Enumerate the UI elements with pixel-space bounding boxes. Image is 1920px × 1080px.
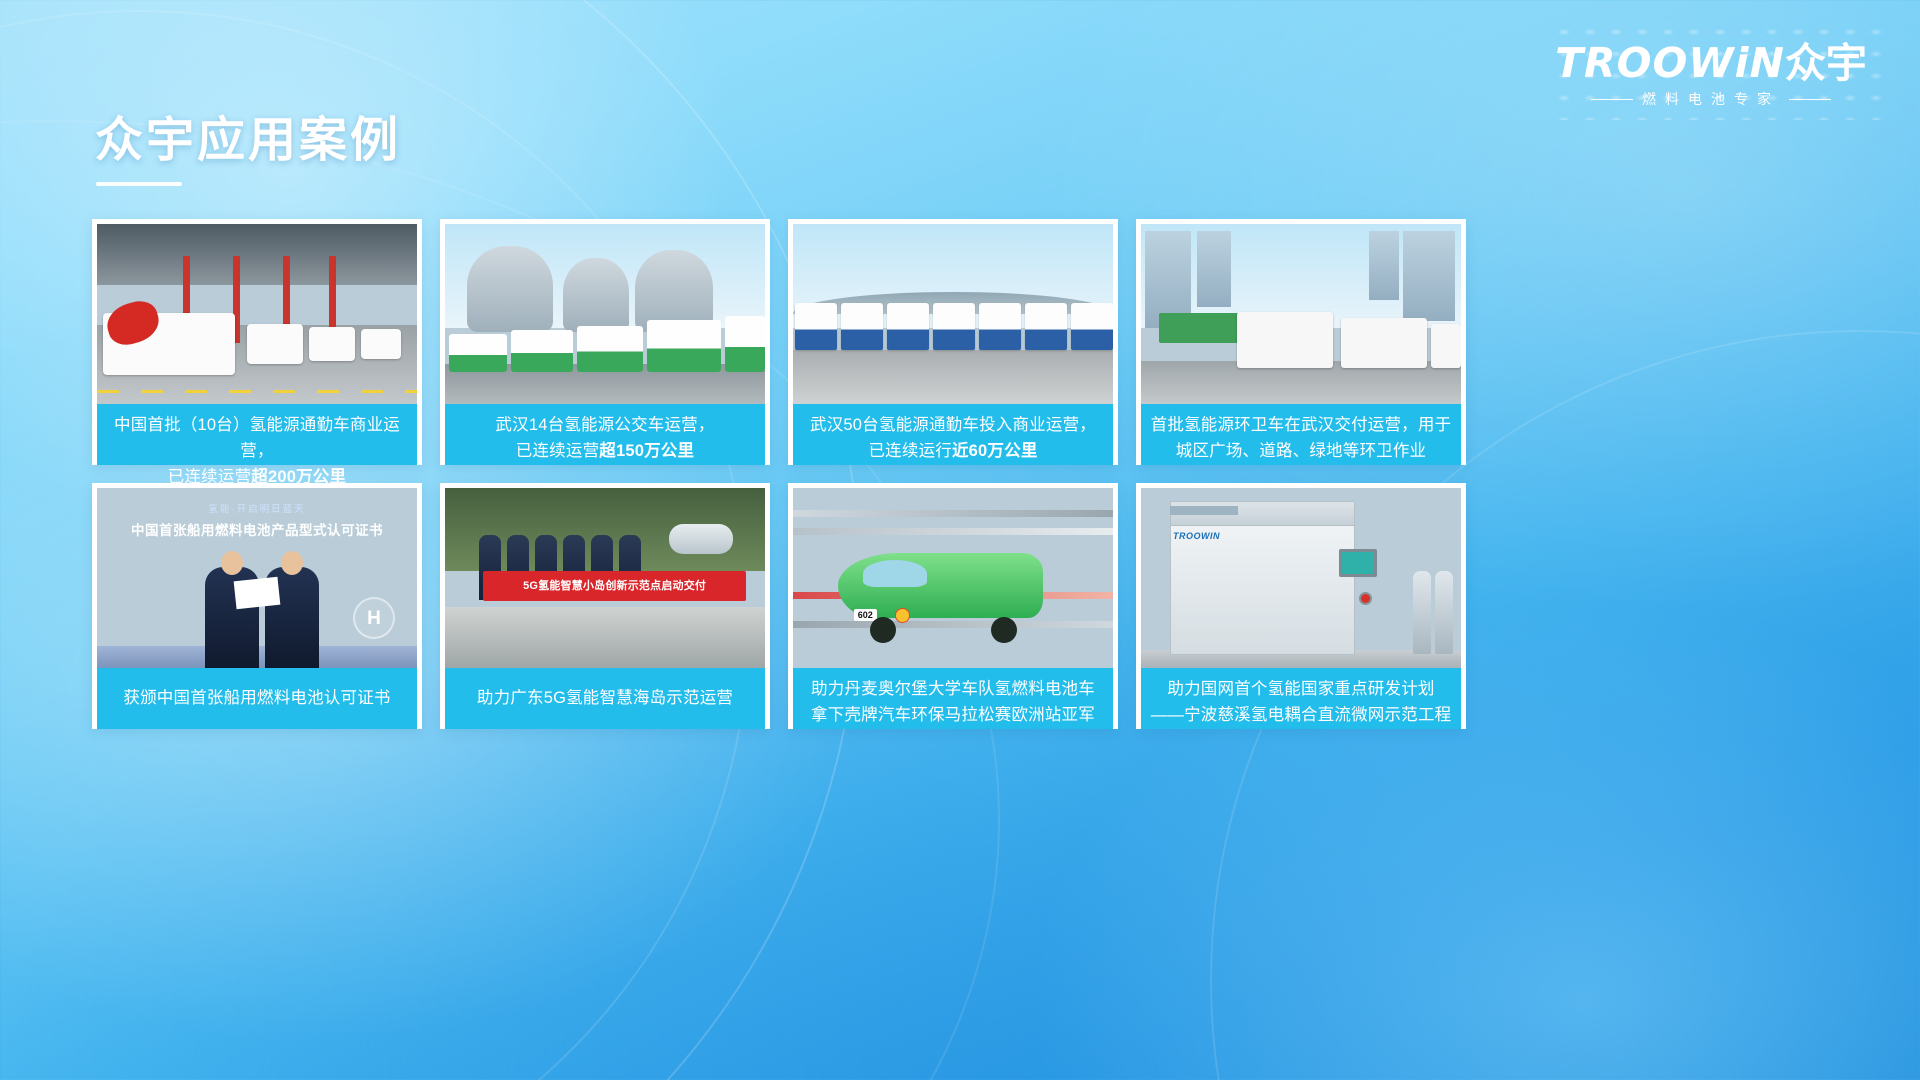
building-tower [467, 246, 553, 332]
case-card-grid: 中国首批（10台）氢能源通勤车商业运营， 已连续运营超200万公里 武汉14台氢… [92, 219, 1832, 729]
logo-tagline: 燃料电池专家 [1642, 89, 1780, 109]
case-card-wuhan-50-commuter[interactable]: 武汉50台氢能源通勤车投入商业运营， 已连续运行近60万公里 [788, 219, 1118, 465]
bus-vehicle [841, 303, 883, 350]
logo-rule-right [1789, 99, 1831, 100]
bus-vehicle [979, 303, 1021, 350]
case-caption: 助力丹麦奥尔堡大学车队氢燃料电池车 拿下壳牌汽车环保马拉松赛欧洲站亚军 [793, 668, 1113, 729]
building [1403, 231, 1455, 321]
case-card-aalborg-shell-eco[interactable]: 602 助力丹麦奥尔堡大学车队氢燃料电池车 拿下壳牌汽车环保马拉松赛欧洲站亚军 [788, 483, 1118, 729]
race-car-wheel [870, 617, 896, 643]
bus-vehicle [887, 303, 929, 350]
logo-tagline-row: 燃料电池专家 [1546, 89, 1876, 109]
case-caption: 武汉14台氢能源公交车运营， 已连续运营超150万公里 [445, 404, 765, 465]
motion-streak [793, 621, 1113, 628]
bus-vehicle [725, 316, 765, 372]
case-card-commuter-bus-10[interactable]: 中国首批（10台）氢能源通勤车商业运营， 已连续运营超200万公里 [92, 219, 422, 465]
case-card-guangdong-5g-island[interactable]: 5G氢能智慧小岛创新示范点启动交付 助力广东5G氢能智慧海岛示范运营 [440, 483, 770, 729]
case-caption-line1: 武汉14台氢能源公交车运营， [495, 416, 714, 434]
case-photo-wuhan-50-commuter [793, 224, 1113, 404]
case-card-marine-certificate[interactable]: 氢能·开启明日蓝天 中国首张船用燃料电池产品型式认可证书 H 获颁中国首张船用燃… [92, 483, 422, 729]
fuel-cell-cabinet [1170, 501, 1356, 656]
sanitation-equipment [1159, 313, 1245, 343]
case-photo-commuter-bus-10 [97, 224, 417, 404]
brand-logo: TROOWiN众宇 燃料电池专家 [1546, 38, 1876, 112]
case-caption-line1: 中国首批（10台）氢能源通勤车商业运营， [114, 416, 400, 460]
stage-kicker-text: 氢能·开启明日蓝天 [97, 501, 417, 515]
control-screen [1339, 549, 1377, 577]
depot-roof [97, 224, 417, 285]
logo-wordmark-chinese: 众宇 [1785, 40, 1867, 86]
case-card-ningbo-cixi-microgrid[interactable]: TROOWIN 助力国网首个氢能国家重点研发计划 ——宁波慈溪氢电耦合直流微网示… [1136, 483, 1466, 729]
road-lane-marking [97, 390, 417, 393]
bus-vehicle [933, 303, 975, 350]
person-face [221, 551, 243, 575]
bus-vehicle [1025, 303, 1067, 350]
case-card-wuhan-14-bus[interactable]: 武汉14台氢能源公交车运营， 已连续运营超150万公里 [440, 219, 770, 465]
case-caption: 首批氢能源环卫车在武汉交付运营，用于 城区广场、道路、绿地等环卫作业 [1141, 404, 1461, 465]
race-car-canopy [863, 560, 927, 587]
race-car-wheel [991, 617, 1017, 643]
building [1369, 231, 1399, 299]
stage-headline-text: 中国首张船用燃料电池产品型式认可证书 [97, 519, 417, 539]
case-caption-line1: 助力国网首个氢能国家重点研发计划 [1167, 680, 1434, 698]
event-banner-text: 5G氢能智慧小岛创新示范点启动交付 [523, 580, 706, 592]
bus-vehicle [449, 334, 507, 372]
case-caption-line2: 城区广场、道路、绿地等环卫作业 [1176, 442, 1427, 460]
case-caption: 助力广东5G氢能智慧海岛示范运营 [445, 668, 765, 729]
case-photo-guangdong-5g-island: 5G氢能智慧小岛创新示范点启动交付 [445, 488, 765, 668]
logo-wordmark-latin: TROOWiN [1555, 39, 1785, 87]
parking-lot-ground [793, 350, 1113, 404]
page-title: 众宇应用案例 [95, 110, 401, 172]
case-photo-wuhan-14-bus [445, 224, 765, 404]
sanitation-truck [1237, 312, 1333, 368]
case-caption-line2: 已连续运营 [516, 442, 600, 460]
case-caption-line2: ——宁波慈溪氢电耦合直流微网示范工程 [1151, 706, 1452, 724]
gas-cylinder [1435, 571, 1453, 654]
emergency-stop-button [1359, 592, 1372, 605]
person-face [281, 551, 303, 575]
case-caption: 武汉50台氢能源通勤车投入商业运营， 已连续运行近60万公里 [793, 404, 1113, 465]
sanitation-truck [1341, 318, 1427, 368]
bus-vehicle [795, 303, 837, 350]
gas-cylinder [1413, 571, 1431, 654]
bus-vehicle [647, 320, 721, 372]
plaza-ground [445, 607, 765, 668]
bus-vehicle [247, 324, 303, 364]
bus-vehicle [361, 329, 401, 359]
logo-wordmark: TROOWiN众宇 [1546, 38, 1876, 88]
case-caption-line1: 武汉50台氢能源通勤车投入商业运营， [810, 416, 1096, 434]
case-photo-sanitation-truck [1141, 224, 1461, 404]
page-title-underline [96, 182, 182, 186]
case-caption-line2: 拿下壳牌汽车环保马拉松赛欧洲站亚军 [811, 706, 1095, 724]
case-photo-aalborg-shell-eco: 602 [793, 488, 1113, 668]
motion-streak [793, 510, 1113, 517]
case-caption-line1: 助力丹麦奥尔堡大学车队氢燃料电池车 [811, 680, 1095, 698]
case-caption-line1: 首批氢能源环卫车在武汉交付运营，用于 [1151, 416, 1452, 434]
bus-vehicle [511, 330, 573, 372]
case-photo-ningbo-cixi-microgrid: TROOWIN [1141, 488, 1461, 668]
bus-vehicle [577, 326, 643, 372]
hydrogen-badge-icon: H [353, 597, 395, 639]
building-tower [563, 258, 629, 332]
case-caption-line2: 已连续运行 [868, 442, 952, 460]
cabinet-brand-text: TROOWIN [1173, 531, 1220, 541]
case-caption-highlight: 近60万公里 [952, 442, 1038, 460]
case-photo-marine-certificate: 氢能·开启明日蓝天 中国首张船用燃料电池产品型式认可证书 H [97, 488, 417, 668]
hydrogen-tank [669, 524, 733, 554]
sanitation-truck [1431, 324, 1461, 368]
case-caption: 助力国网首个氢能国家重点研发计划 ——宁波慈溪氢电耦合直流微网示范工程 [1141, 668, 1461, 729]
bus-vehicle [309, 327, 355, 361]
event-banner: 5G氢能智慧小岛创新示范点启动交付 [483, 571, 745, 602]
bus-vehicle [1071, 303, 1113, 350]
case-card-sanitation-truck[interactable]: 首批氢能源环卫车在武汉交付运营，用于 城区广场、道路、绿地等环卫作业 [1136, 219, 1466, 465]
certificate-document [234, 577, 281, 609]
case-caption-highlight: 超150万公里 [599, 442, 694, 460]
case-caption: 获颁中国首张船用燃料电池认可证书 [97, 668, 417, 729]
motion-streak [793, 528, 1113, 535]
building [1197, 231, 1231, 307]
logo-rule-left [1591, 99, 1633, 100]
cabinet-label-plate [1170, 506, 1238, 515]
case-caption: 中国首批（10台）氢能源通勤车商业运营， 已连续运营超200万公里 [97, 404, 417, 465]
